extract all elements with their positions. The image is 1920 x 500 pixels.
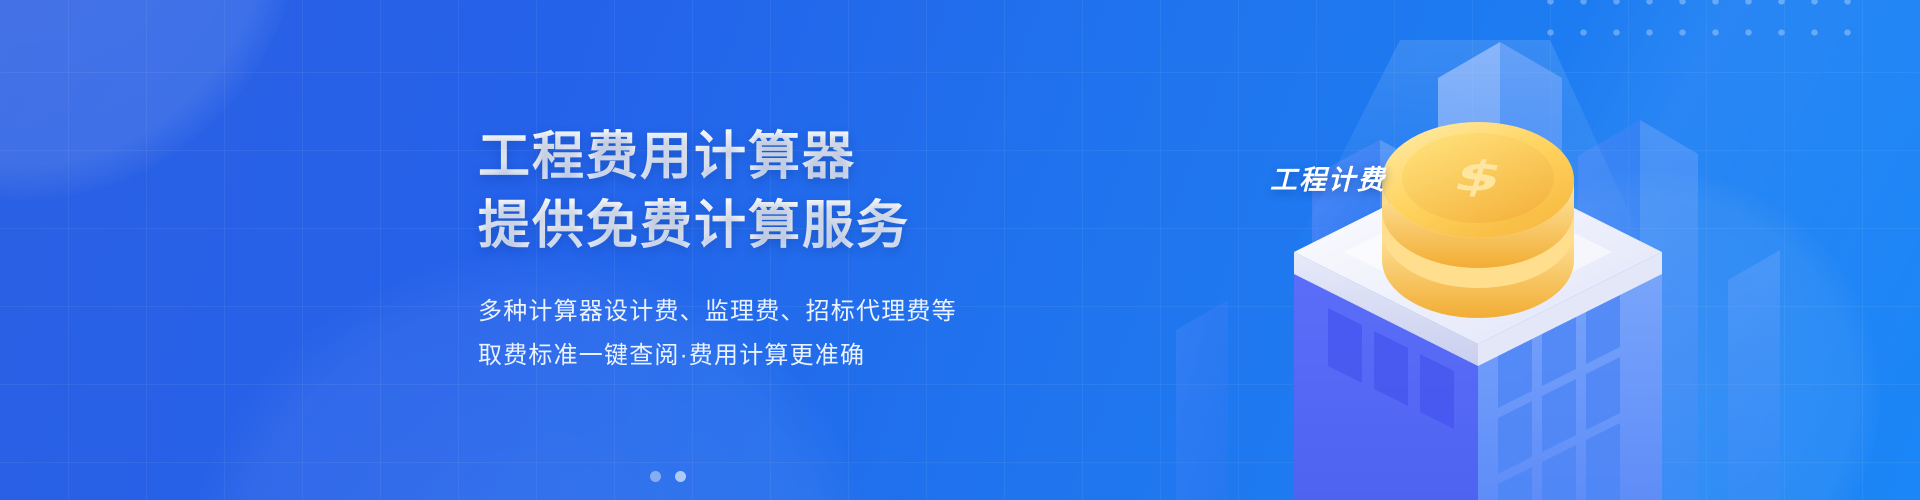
subtitle-line-2: 取费标准一键查阅·费用计算更准确: [478, 334, 1118, 378]
headline-line-2: 提供免费计算服务: [478, 195, 1118, 258]
carousel-dot-2[interactable]: [675, 471, 686, 482]
gold-coin-stack: $: [1360, 122, 1596, 318]
headline-line-1: 工程费用计算器: [478, 126, 1118, 189]
carousel-dot-1[interactable]: [650, 471, 661, 482]
banner-copy: 工程费用计算器 提供免费计算服务 多种计算器设计费、监理费、招标代理费等 取费标…: [478, 126, 1118, 378]
carousel-dots[interactable]: [650, 471, 686, 482]
isometric-illustration: $ 工程计费: [1080, 0, 1920, 500]
promo-banner: 工程费用计算器 提供免费计算服务 多种计算器设计费、监理费、招标代理费等 取费标…: [0, 0, 1920, 500]
illustration-label: 工程计费: [1270, 158, 1386, 197]
decorative-circle-top-left: [0, 0, 300, 200]
subtitle-line-1: 多种计算器设计费、监理费、招标代理费等: [478, 290, 1118, 334]
illustration-svg: $: [1080, 0, 1920, 500]
